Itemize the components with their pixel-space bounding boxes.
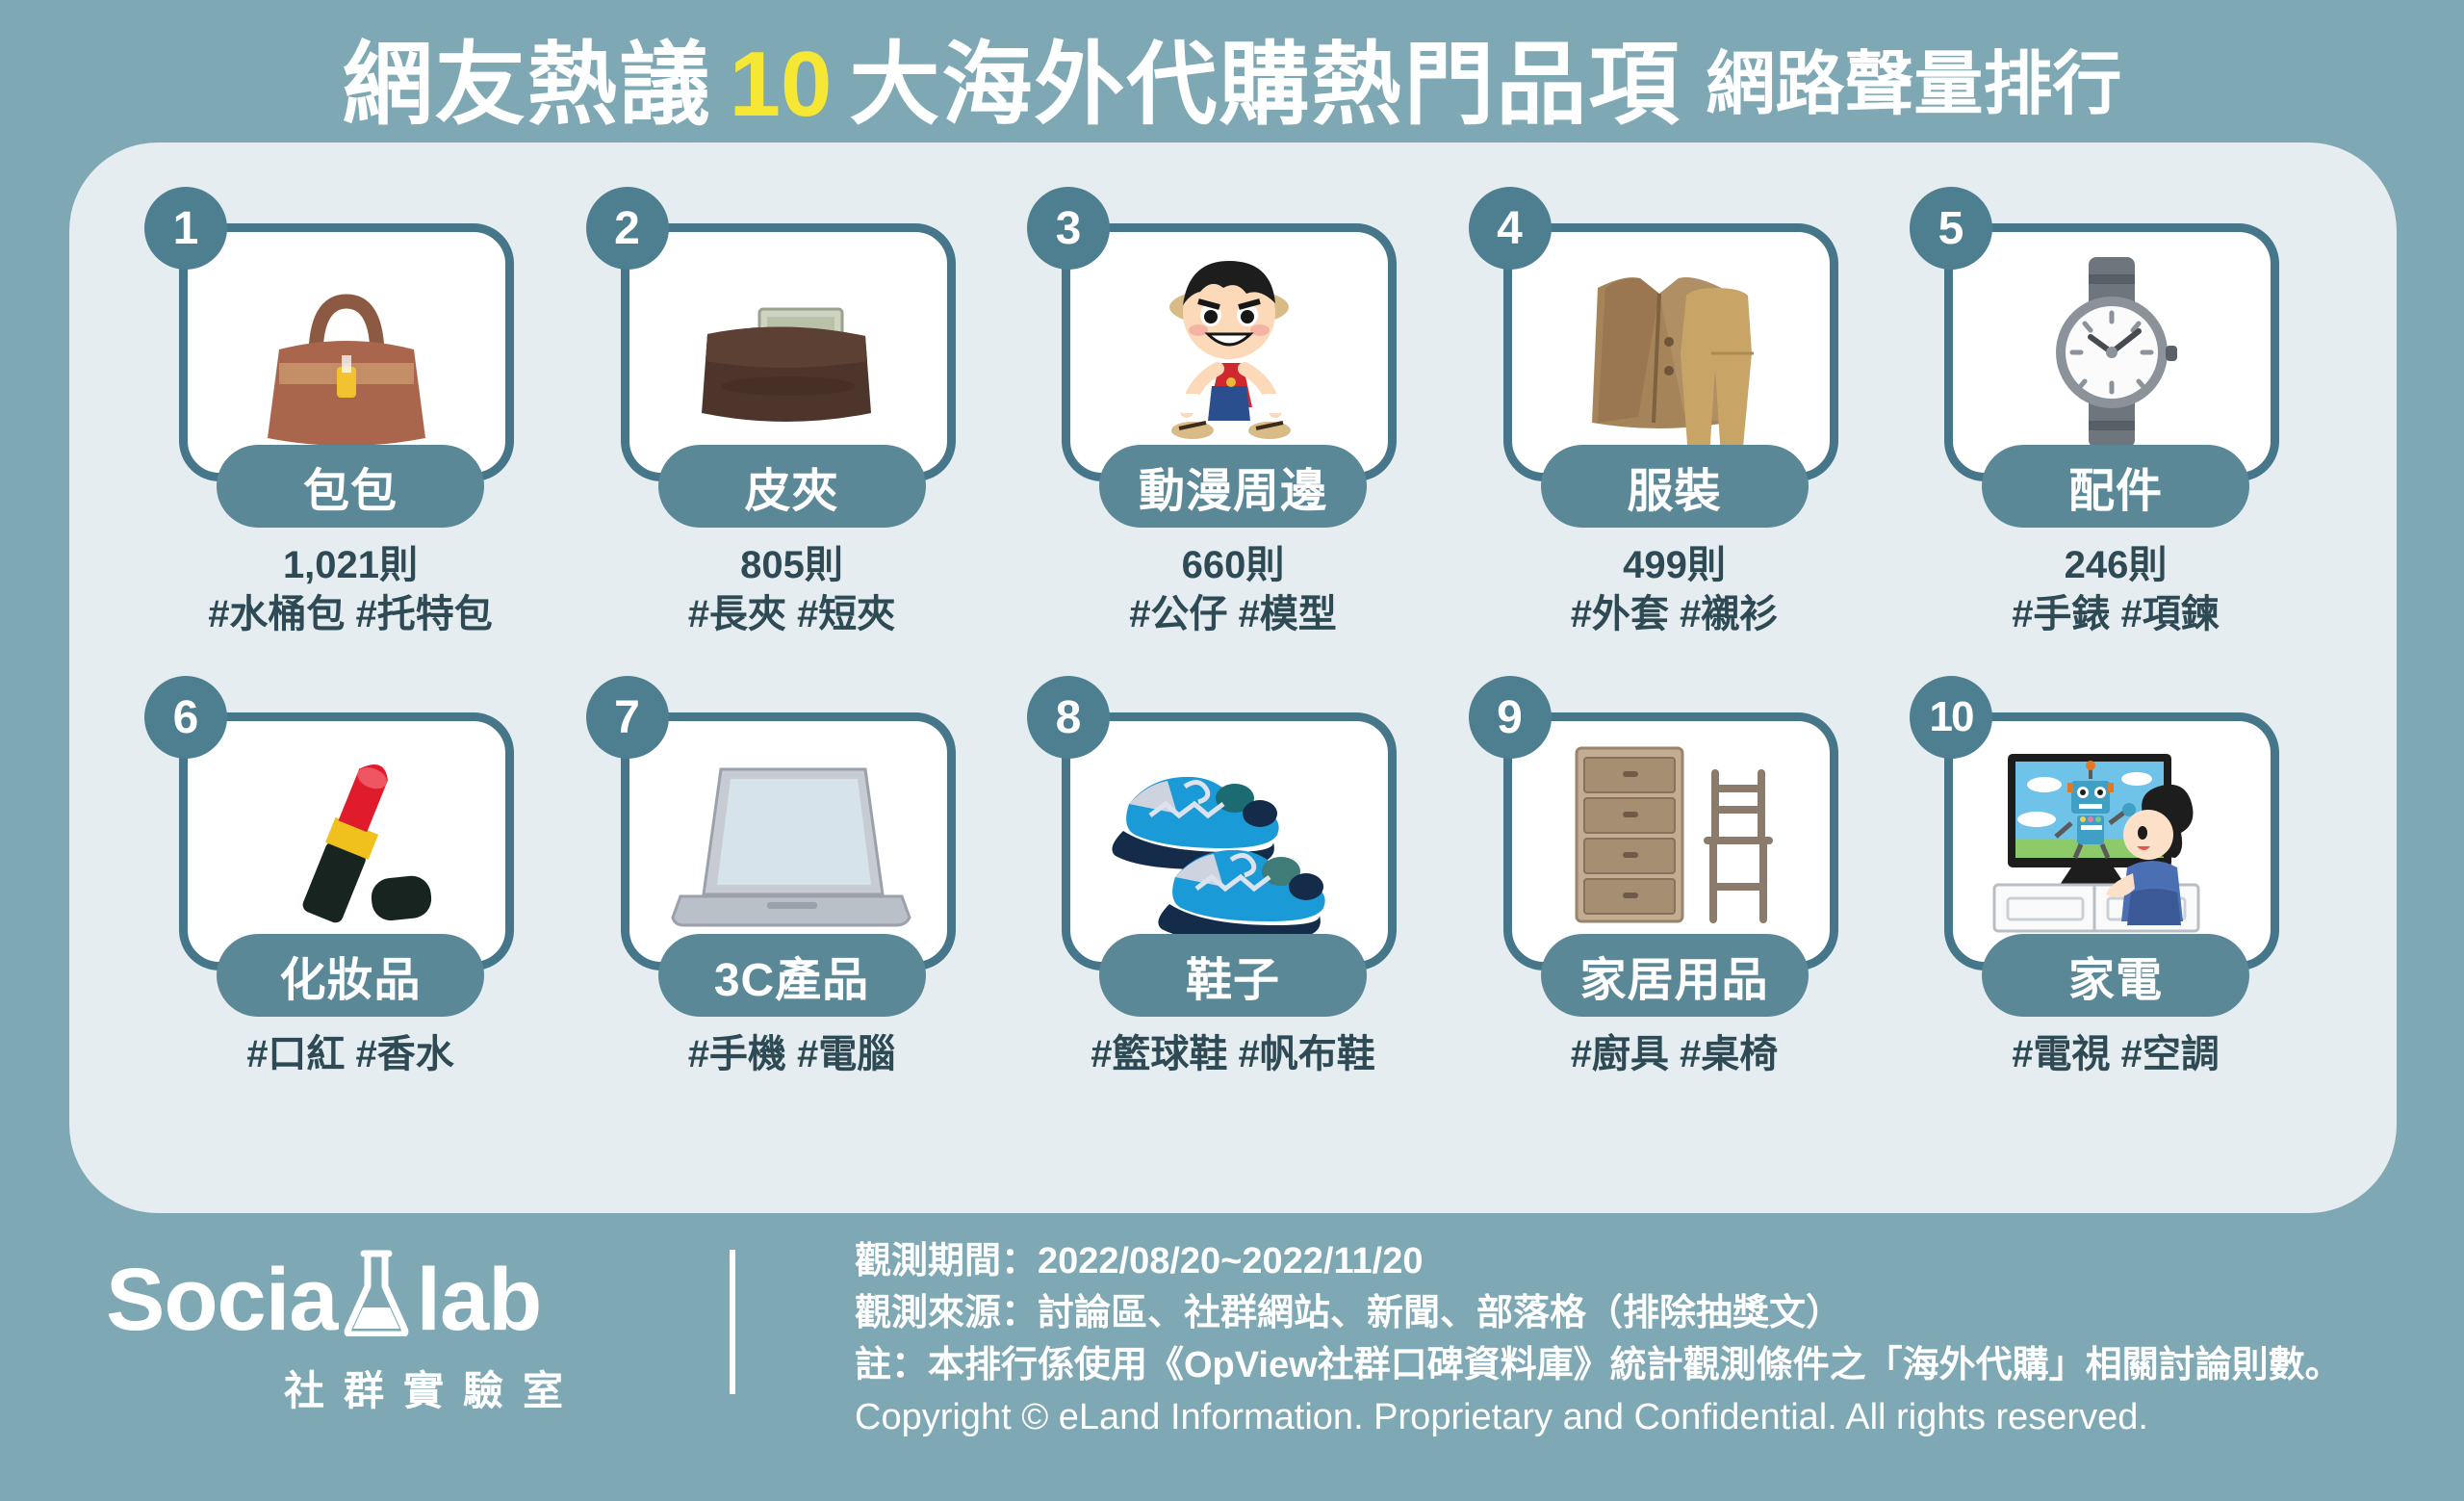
item-count: 246則	[1923, 541, 2308, 590]
item-tags: #公仔 #模型	[1040, 590, 1425, 639]
item-label: 鞋子	[1099, 934, 1367, 1017]
logo-word-right: lab	[416, 1255, 541, 1344]
laptop-illustration	[644, 731, 933, 952]
item-image-card	[1062, 712, 1397, 970]
footer-notes: 觀測期間：2022/08/20~2022/11/20 觀測來源：討論區、社群網站…	[855, 1236, 2342, 1444]
item-stats: 246則 #手錶 #項鍊	[1923, 541, 2308, 639]
item-tags: #籃球鞋 #帆布鞋	[1040, 1030, 1425, 1079]
item-image-card	[179, 712, 514, 970]
logo-word-left: Socia	[106, 1255, 337, 1344]
ranking-item-5[interactable]: 5	[1923, 202, 2308, 684]
television-illustration	[1967, 731, 2256, 952]
item-stats: 499則 #外套 #襯衫	[1482, 541, 1867, 639]
flask-icon	[339, 1248, 414, 1351]
item-image-card	[1062, 223, 1397, 481]
item-label: 配件	[1982, 445, 2249, 528]
ranking-item-9[interactable]: 9	[1482, 691, 1867, 1173]
ranking-item-1[interactable]: 1 包包 1,021則 #水桶包 #托特包	[158, 202, 543, 684]
observation-source: 觀測來源：討論區、社群網站、新聞、部落格（排除抽獎文）	[855, 1288, 2342, 1340]
rank-badge: 3	[1027, 187, 1110, 270]
item-image-card	[179, 223, 514, 481]
logo-chinese: 社群實驗室	[106, 1359, 722, 1417]
wristwatch-illustration	[1967, 242, 2256, 463]
item-label: 家電	[1982, 934, 2249, 1017]
item-tags: #廚具 #桌椅	[1482, 1030, 1867, 1079]
item-stats: 1,021則 #水桶包 #托特包	[158, 541, 543, 639]
item-count: 805則	[600, 541, 985, 590]
ranking-item-8[interactable]: 8 鞋子 #籃球鞋 #帆布鞋	[1040, 691, 1425, 1173]
item-tags: #水桶包 #托特包	[158, 590, 543, 639]
rank-badge: 2	[586, 187, 669, 270]
ranking-item-10[interactable]: 10	[1923, 691, 2308, 1173]
item-label: 3C產品	[658, 934, 926, 1017]
item-tags: #長夾 #短夾	[600, 590, 985, 639]
item-image-card	[1503, 223, 1838, 481]
anime-figure-illustration	[1085, 242, 1373, 463]
footer: Socia lab 社群實驗室 觀測期間：2022/08/20~2022/11/…	[0, 1229, 2464, 1488]
rank-badge: 10	[1910, 676, 1992, 759]
ranking-item-4[interactable]: 4 服裝 499則 #外套 #襯衫	[1482, 202, 1867, 684]
item-stats: #電視 #空調	[1923, 1030, 2308, 1079]
item-tags: #手機 #電腦	[600, 1030, 985, 1079]
item-image-card	[1503, 712, 1838, 970]
rank-badge: 8	[1027, 676, 1110, 759]
sociallab-logo: Socia lab 社群實驗室	[106, 1248, 722, 1417]
item-count: 499則	[1482, 541, 1867, 590]
clothing-illustration	[1527, 242, 1815, 463]
item-label: 服裝	[1541, 445, 1809, 528]
methodology-note: 註：本排行係使用《OpView社群口碑資料庫》統計觀測條件之「海外代購」相關討論…	[855, 1340, 2342, 1392]
item-stats: 660則 #公仔 #模型	[1040, 541, 1425, 639]
rank-badge: 1	[144, 187, 227, 270]
item-stats: #籃球鞋 #帆布鞋	[1040, 1030, 1425, 1079]
title-subtitle: 網路聲量排行	[1706, 50, 2121, 119]
item-tags: #電視 #空調	[1923, 1030, 2308, 1079]
rank-badge: 6	[144, 676, 227, 759]
item-stats: #廚具 #桌椅	[1482, 1030, 1867, 1079]
handbag-illustration	[202, 242, 491, 463]
ranking-panel: 1 包包 1,021則 #水桶包 #托特包 2	[69, 142, 2397, 1213]
lipstick-illustration	[202, 731, 491, 952]
item-label: 皮夾	[658, 445, 926, 528]
item-stats: #口紅 #香水	[158, 1030, 543, 1079]
copyright-text: Copyright © eLand Information. Proprieta…	[855, 1392, 2342, 1444]
item-image-card	[1944, 223, 2279, 481]
item-stats: 805則 #長夾 #短夾	[600, 541, 985, 639]
item-tags: #外套 #襯衫	[1482, 590, 1867, 639]
ranking-row-1: 1 包包 1,021則 #水桶包 #托特包 2	[69, 202, 2397, 693]
ranking-item-7[interactable]: 7 3C產品 #手機 #電腦	[600, 691, 985, 1173]
title-lead: 網友熱議	[343, 39, 712, 130]
rank-badge: 7	[586, 676, 669, 759]
title-number-highlight: 10	[712, 39, 850, 131]
item-image-card	[621, 223, 956, 481]
wallet-illustration	[644, 242, 933, 463]
item-label: 動漫周邊	[1099, 445, 1367, 528]
ranking-item-2[interactable]: 2 皮夾 805則 #長夾 #短夾	[600, 202, 985, 684]
sneakers-illustration	[1085, 731, 1373, 952]
item-image-card	[1944, 712, 2279, 970]
rank-badge: 4	[1469, 187, 1552, 270]
ranking-item-3[interactable]: 3	[1040, 202, 1425, 684]
logo-wordmark: Socia lab	[106, 1248, 722, 1351]
rank-badge: 5	[1910, 187, 1992, 270]
ranking-item-6[interactable]: 6 化妝品 #口紅 #香水	[158, 691, 543, 1173]
item-tags: #手錶 #項鍊	[1923, 590, 2308, 639]
title-middle: 大海外代購熱門品項	[849, 39, 1681, 130]
item-label: 包包	[217, 445, 484, 528]
item-label: 化妝品	[217, 934, 484, 1017]
item-stats: #手機 #電腦	[600, 1030, 985, 1079]
item-tags: #口紅 #香水	[158, 1030, 543, 1079]
rank-badge: 9	[1469, 676, 1552, 759]
item-count: 660則	[1040, 541, 1425, 590]
item-label: 家居用品	[1541, 934, 1809, 1017]
observation-period: 觀測期間：2022/08/20~2022/11/20	[855, 1236, 2342, 1288]
page-title: 網友熱議 10 大海外代購熱門品項 網路聲量排行	[0, 27, 2464, 142]
item-count: 1,021則	[158, 541, 543, 590]
footer-divider	[730, 1250, 735, 1394]
item-image-card	[621, 712, 956, 970]
ranking-row-2: 6 化妝品 #口紅 #香水 7	[69, 691, 2397, 1182]
furniture-illustration	[1527, 731, 1815, 952]
